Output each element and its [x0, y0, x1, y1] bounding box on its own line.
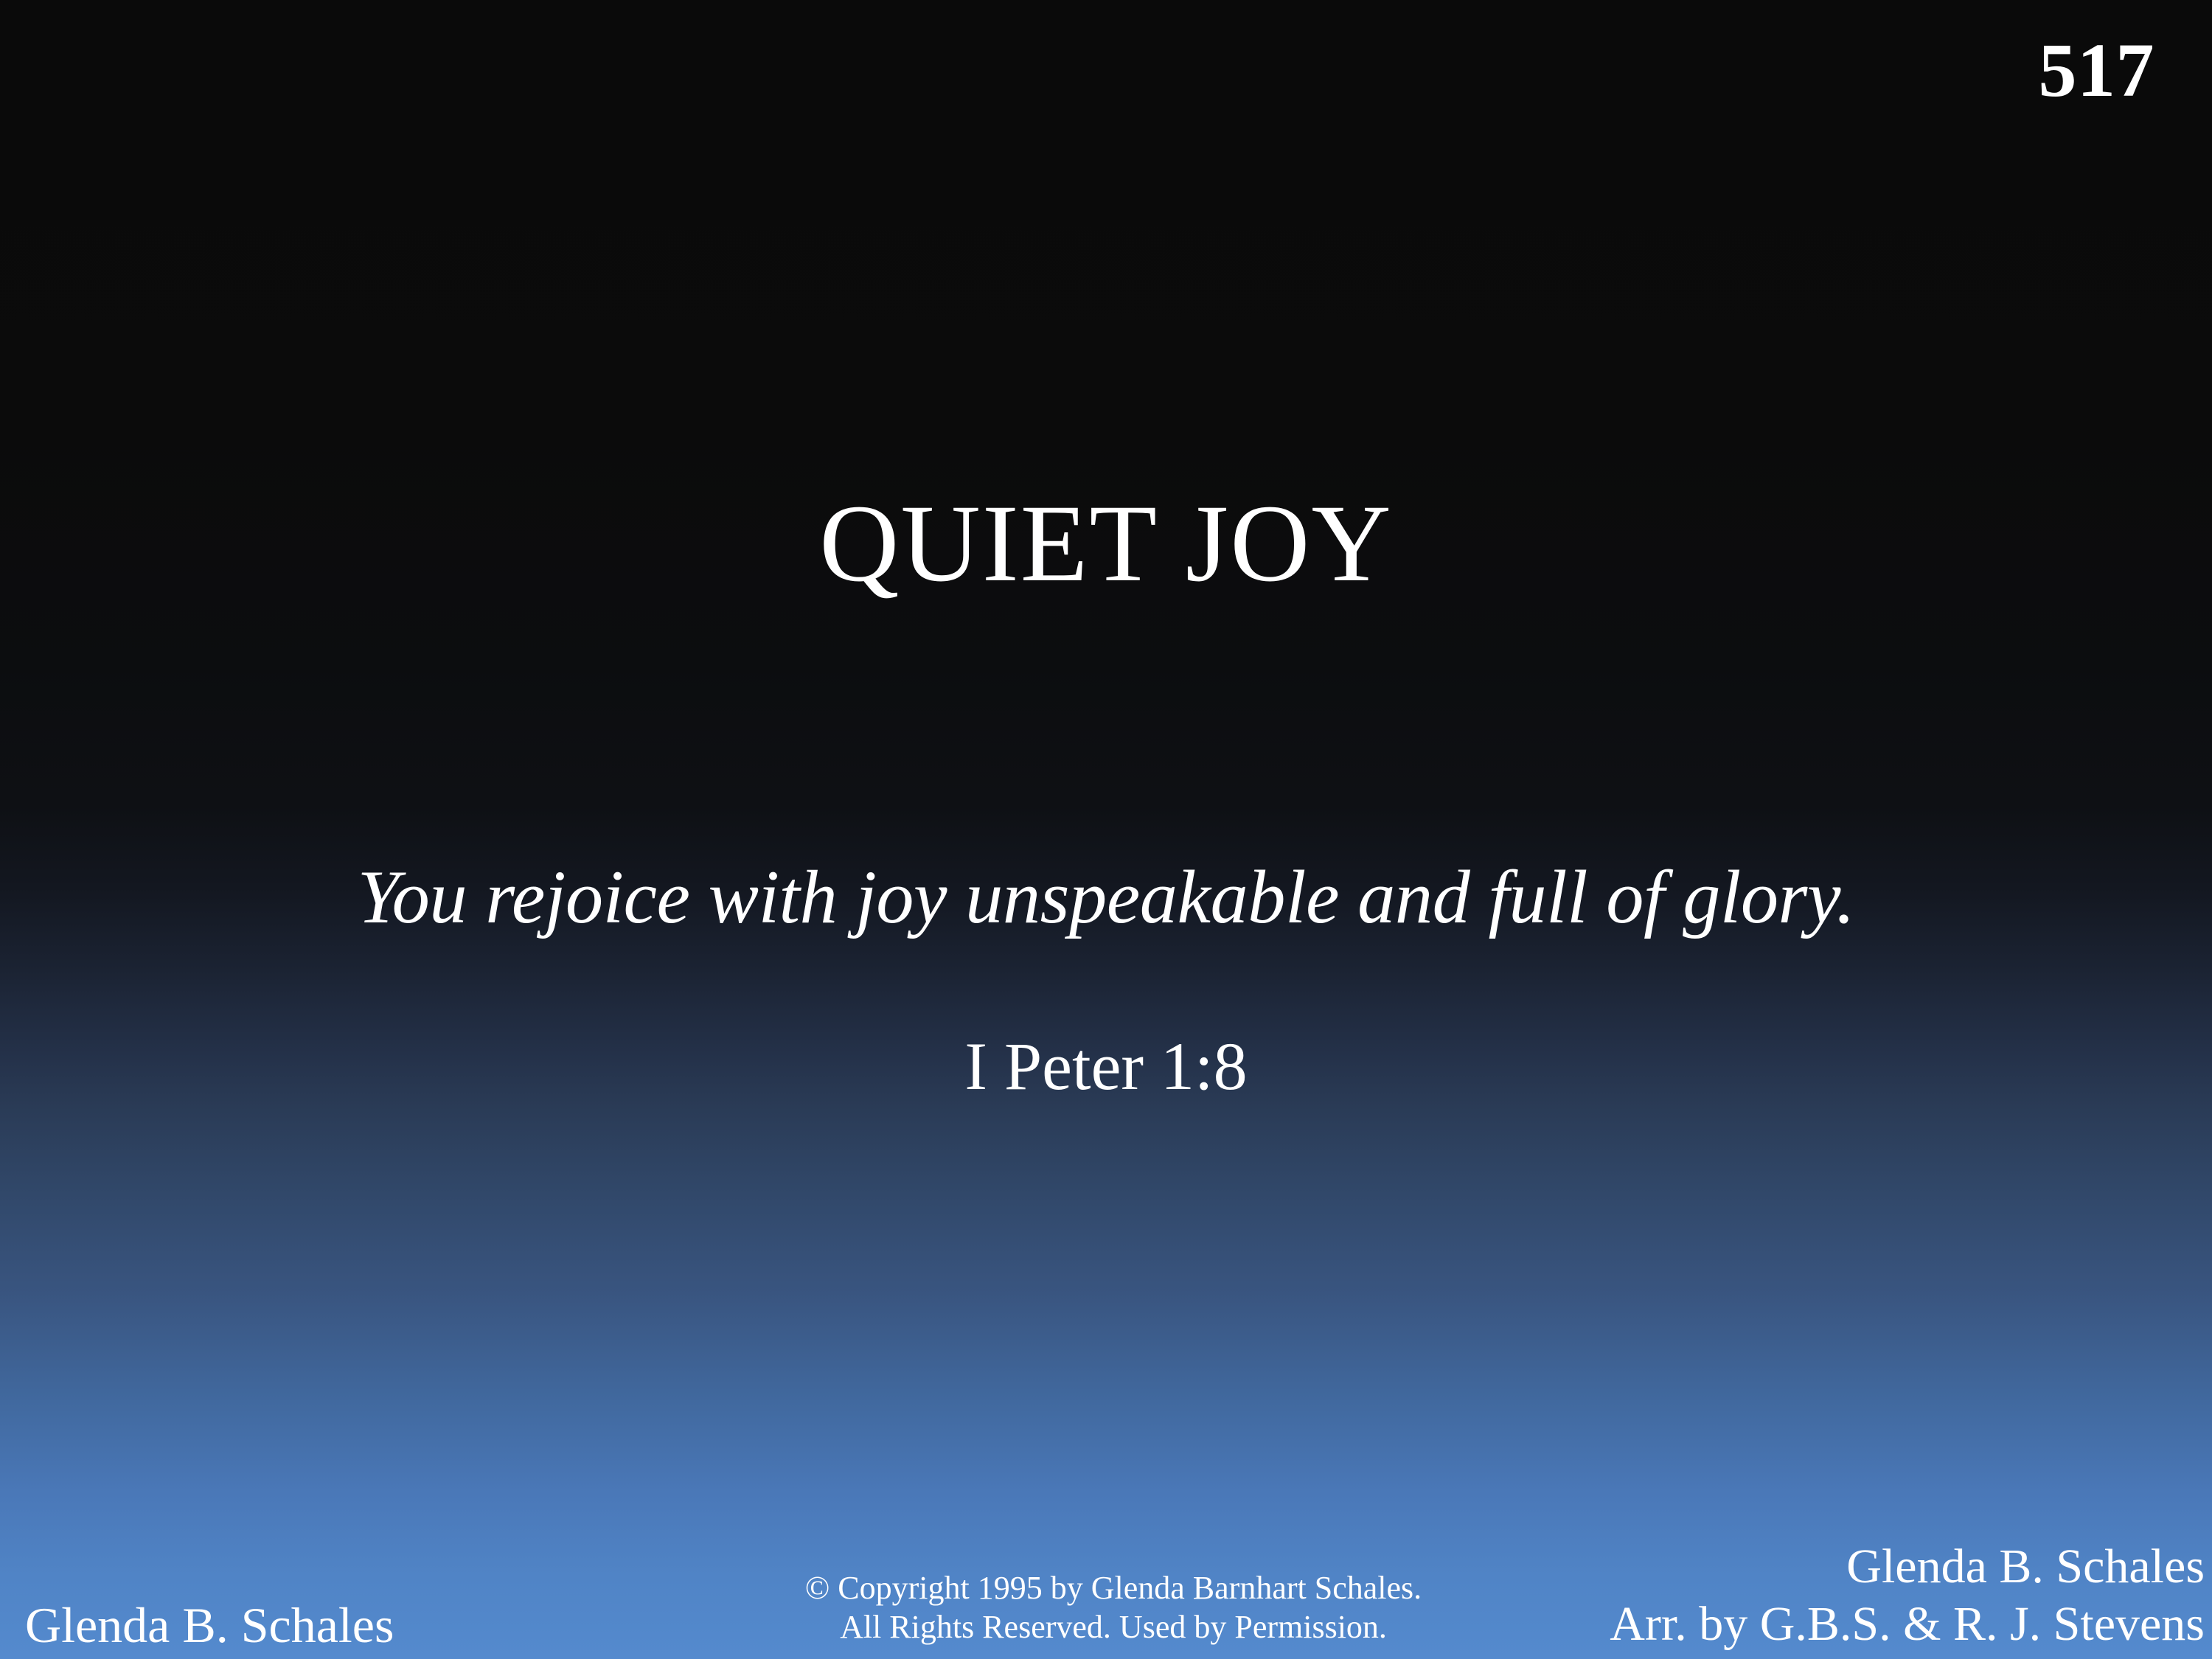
- page-title: QUIET JOY: [0, 488, 2212, 599]
- scripture-reference: I Peter 1:8: [0, 1032, 2212, 1100]
- credit-block-right: Glenda B. Schales Arr. by G.B.S. & R. J.…: [1610, 1538, 2205, 1653]
- hymn-slide: 517 QUIET JOY You rejoice with joy unspe…: [0, 0, 2212, 1659]
- slide-content: 517 QUIET JOY You rejoice with joy unspe…: [0, 0, 2212, 1659]
- scripture-quote: You rejoice with joy unspeakable and ful…: [6, 860, 2207, 936]
- composer-credit-right: Glenda B. Schales: [1610, 1538, 2205, 1596]
- hymn-number: 517: [2039, 32, 2155, 109]
- arranger-credit: Arr. by G.B.S. & R. J. Stevens: [1610, 1596, 2205, 1653]
